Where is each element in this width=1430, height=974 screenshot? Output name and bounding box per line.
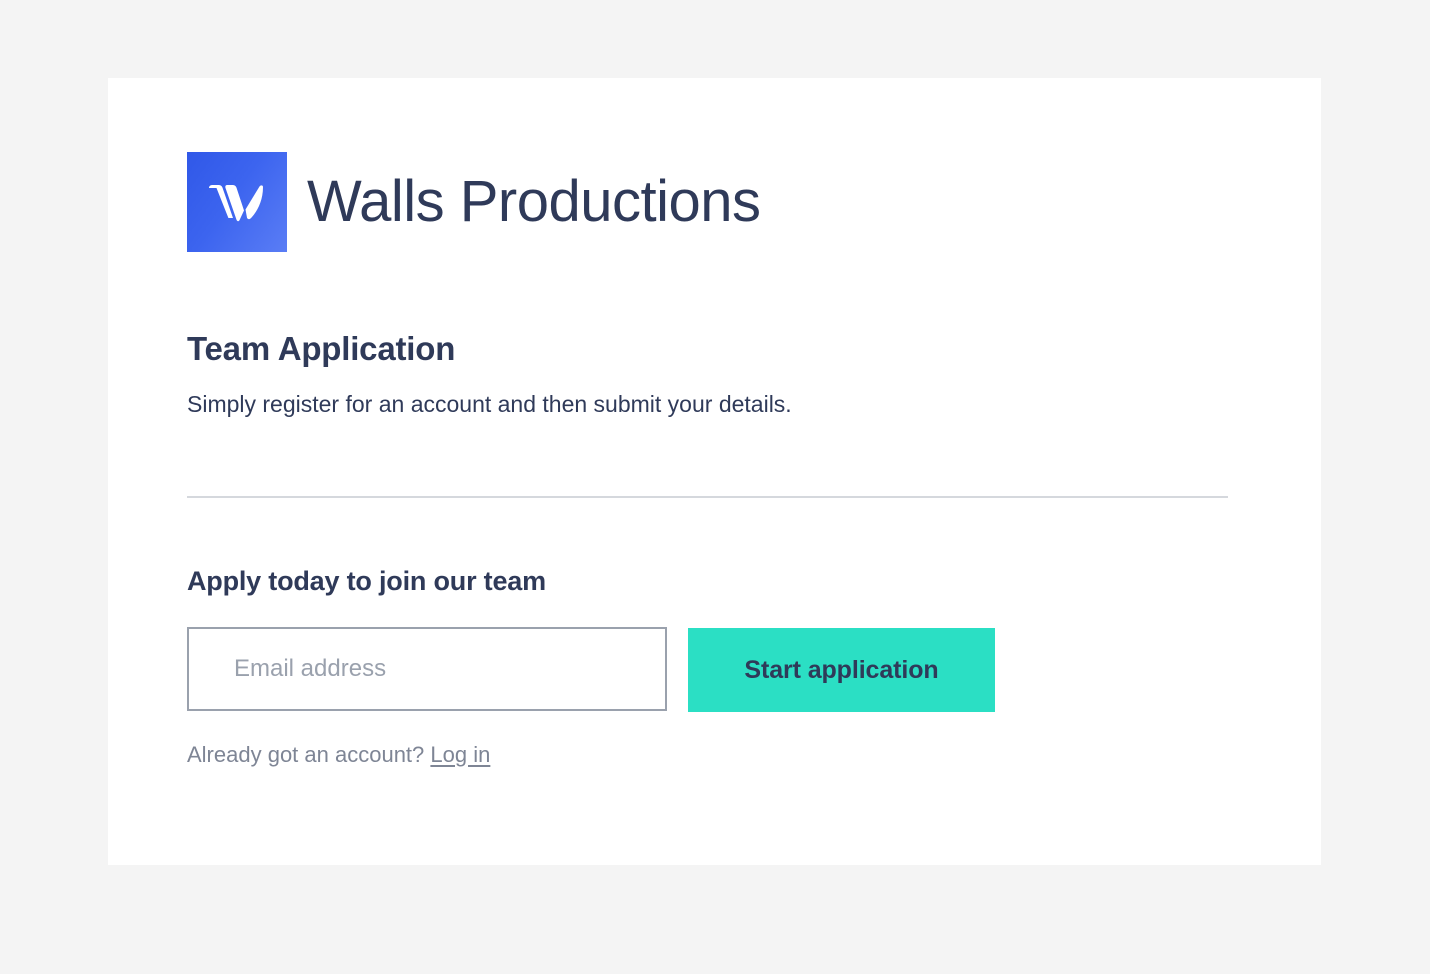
w-monogram-icon <box>187 152 287 252</box>
section-divider <box>187 496 1228 498</box>
page-title: Team Application <box>187 330 1247 368</box>
page-subtitle: Simply register for an account and then … <box>187 390 1247 420</box>
login-link[interactable]: Log in <box>430 742 490 767</box>
brand-name: Walls Productions <box>307 173 761 231</box>
intro-block: Team Application Simply register for an … <box>187 330 1247 420</box>
form-title: Apply today to join our team <box>187 566 1187 597</box>
start-application-label: Start application <box>744 656 938 685</box>
existing-account-note: Already got an account? Log in <box>187 742 1187 768</box>
start-application-button[interactable]: Start application <box>688 628 995 712</box>
form-row: Start application <box>187 627 1187 712</box>
brand-header: Walls Productions <box>187 152 761 252</box>
email-input[interactable] <box>187 627 667 711</box>
account-prompt-text: Already got an account? <box>187 742 424 767</box>
signup-form: Apply today to join our team Start appli… <box>187 566 1187 768</box>
application-card: Walls Productions Team Application Simpl… <box>108 78 1321 865</box>
application-page: Walls Productions Team Application Simpl… <box>0 0 1430 974</box>
